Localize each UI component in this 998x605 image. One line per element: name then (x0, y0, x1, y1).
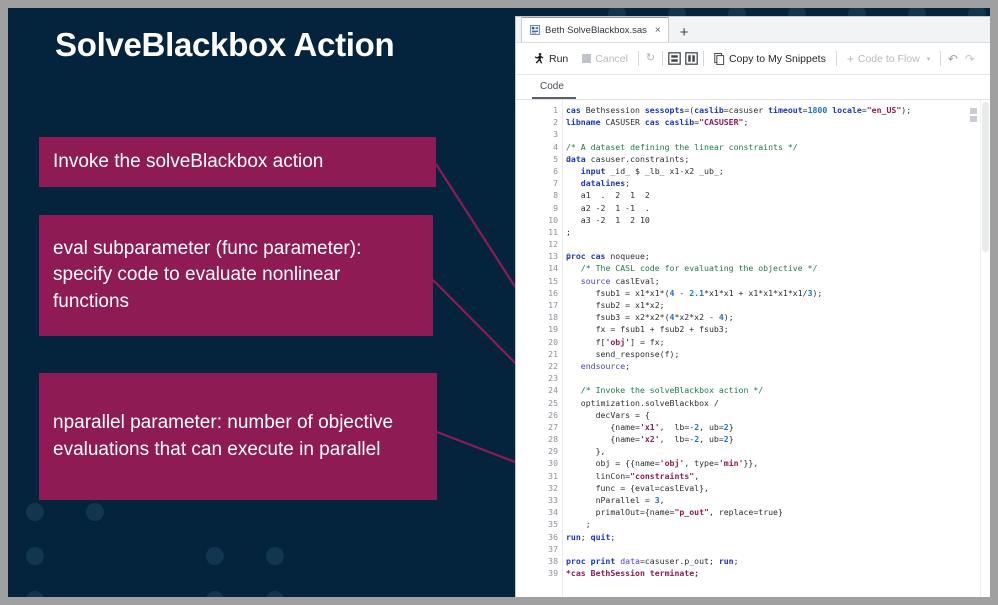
code-token: linCon= (566, 471, 630, 481)
decorative-dot (266, 547, 284, 565)
code-token: locale (832, 105, 862, 115)
editor-minimap (970, 108, 979, 124)
code-token: proc print (566, 556, 620, 566)
code-token: Bethsession (586, 105, 645, 115)
document-tab[interactable]: Beth SolveBlackbox.sas × (521, 16, 669, 42)
code-line: endsource; (566, 360, 990, 372)
line-number: 38 (516, 555, 562, 567)
code-token: ; (625, 178, 630, 188)
code-token: casuser.constraints; (591, 154, 690, 164)
undo-button[interactable]: ↶ (944, 50, 961, 67)
line-number: 28 (516, 433, 562, 445)
line-number: 21 (516, 348, 562, 360)
line-number: 6 (516, 165, 562, 177)
code-line: decVars = { (566, 409, 990, 421)
refresh-button[interactable]: ↻ (642, 50, 659, 67)
code-token: quit (591, 532, 611, 542)
code-token: ); (724, 312, 734, 322)
code-token: a3 -2 1 2 10 (566, 215, 650, 225)
code-line: fsub2 = x1*x2; (566, 299, 990, 311)
line-number: 16 (516, 287, 562, 299)
code-token: *x2*x2 - (674, 312, 718, 322)
code-content[interactable]: cas Bethsession sessopts=(caslib=casuser… (562, 100, 990, 597)
callout-eval-subparameter: eval subparameter (func parameter): spec… (39, 215, 433, 336)
code-line: libname CASUSER cas caslib="CASUSER"; (566, 116, 990, 128)
code-line: proc cas noqueue; (566, 250, 990, 262)
line-number: 20 (516, 336, 562, 348)
code-token: {name= (566, 434, 640, 444)
code-token: caslib (694, 105, 724, 115)
line-number: 15 (516, 275, 562, 287)
code-to-flow-button: + Code to Flow ▾ (840, 48, 937, 70)
slide-canvas: SolveBlackbox Action Invoke the solveBla… (8, 8, 990, 597)
redo-icon: ↷ (965, 53, 975, 65)
code-token: run (719, 556, 734, 566)
code-token: } (729, 422, 734, 432)
fold-toggle-icon[interactable]: ⊖ (562, 153, 571, 165)
code-token: , type= (684, 458, 719, 468)
code-token: , ub= (699, 422, 724, 432)
line-number: 11 (516, 226, 562, 238)
line-number: 30 (516, 457, 562, 469)
toolbar-divider (836, 51, 837, 66)
code-token: _id_ $ _lb_ x1-x2 _ub_; (610, 166, 723, 176)
code-token: =casuser (724, 105, 768, 115)
redo-button[interactable]: ↷ (961, 50, 978, 67)
code-line (566, 543, 990, 555)
line-number: 7 (516, 177, 562, 189)
editor-toolbar: Run Cancel ↻ (516, 43, 990, 75)
code-token: cas (645, 117, 665, 127)
line-number: 33 (516, 494, 562, 506)
minimap-mark (970, 116, 977, 122)
line-number: 22 (516, 360, 562, 372)
line-number: 32 (516, 482, 562, 494)
line-number: 3 (516, 128, 562, 140)
code-token: =casuser.p_out; (640, 556, 719, 566)
code-token: cas (566, 105, 586, 115)
code-token: datalines (581, 178, 625, 188)
code-token (566, 263, 581, 273)
decorative-dot (26, 591, 44, 597)
code-token: , ub= (699, 434, 724, 444)
line-number: 5⊖ (516, 153, 562, 165)
code-line: }, (566, 445, 990, 457)
line-number: 2 (516, 116, 562, 128)
copy-to-my-snippets-label: Copy to My Snippets (729, 53, 826, 65)
copy-to-my-snippets-button[interactable]: Copy to My Snippets (707, 48, 833, 70)
code-line: {name='x1', lb=-2, ub=2} (566, 421, 990, 433)
code-token: 2.1 (689, 288, 704, 298)
code-token: source (581, 276, 616, 286)
code-token: fsub2 = x1*x2; (566, 300, 665, 310)
code-token: func = {eval=caslEval}, (566, 483, 709, 493)
code-line: send_response(f); (566, 348, 990, 360)
code-token: ; (625, 361, 630, 371)
line-number: 31 (516, 470, 562, 482)
code-line: a2 -2 1 -1 . (566, 202, 990, 214)
code-line: source caslEval; (566, 275, 990, 287)
line-number: 1 (516, 104, 562, 116)
code-line: ; (566, 226, 990, 238)
code-line: /* A dataset defining the linear constra… (566, 141, 990, 153)
code-token: ; (743, 117, 748, 127)
code-token: a1 . 2 1 2 (566, 190, 650, 200)
code-line: nParallel = 3, (566, 494, 990, 506)
line-number: 19 (516, 323, 562, 335)
line-number: 14 (516, 262, 562, 274)
code-token: "CASUSER" (699, 117, 743, 127)
code-line: a1 . 2 1 2 (566, 189, 990, 201)
code-line: cas Bethsession sessopts=(caslib=casuser… (566, 104, 990, 116)
callout-eval-subparameter-text: eval subparameter (func parameter): spec… (53, 236, 419, 315)
callout-invoke-action: Invoke the solveBlackbox action (39, 137, 436, 187)
line-number: 17 (516, 299, 562, 311)
code-line (566, 128, 990, 140)
scrollbar-thumb[interactable] (982, 102, 989, 252)
code-token: ); (901, 105, 911, 115)
code-line: run; quit; (566, 531, 990, 543)
code-token: *x1*x1 + x1*x1*x1*x1/ (704, 288, 808, 298)
code-token: noqueue; (610, 251, 649, 261)
code-token: ; (581, 532, 591, 542)
code-token: /* The CASL code for evaluating the obje… (581, 263, 818, 273)
stop-icon (582, 54, 591, 63)
code-token: 1800 (808, 105, 828, 115)
code-token: /* Invoke the solveBlackbox action */ (581, 385, 763, 395)
callout-nparallel-parameter: nparallel parameter: number of objective… (39, 373, 437, 500)
code-token: , lb=- (660, 434, 695, 444)
undo-icon: ↶ (948, 53, 958, 65)
cancel-label: Cancel (595, 53, 628, 65)
editor-subtab-bar: Code (516, 75, 990, 100)
code-token (566, 178, 581, 188)
code-token: ); (813, 288, 823, 298)
code-token: 'x2' (640, 434, 660, 444)
code-token: 'x1' (640, 422, 660, 432)
code-token: /* A dataset defining the linear constra… (566, 142, 798, 152)
line-number: 25 (516, 397, 562, 409)
document-tab-label: Beth SolveBlackbox.sas (545, 25, 647, 36)
code-token: ] = fx; (630, 337, 665, 347)
code-token: 'min' (719, 458, 744, 468)
callout-invoke-action-text: Invoke the solveBlackbox action (53, 149, 323, 175)
code-token: a2 -2 1 -1 . (566, 203, 650, 213)
refresh-icon: ↻ (646, 53, 655, 64)
line-number: 27 (516, 421, 562, 433)
code-token: fsub1 = x1*x1*( (566, 288, 670, 298)
code-line: primalOut={name="p_out", replace=true} (566, 506, 990, 518)
code-token: nParallel = (566, 495, 655, 505)
code-line: obj = {{name='obj', type='min'}}, (566, 457, 990, 469)
code-token: - (674, 288, 689, 298)
line-number: 24 (516, 384, 562, 396)
code-token: ; (734, 556, 739, 566)
decorative-dot (206, 591, 224, 597)
line-number: 9 (516, 202, 562, 214)
run-icon (533, 52, 545, 65)
code-line: ; (566, 518, 990, 530)
code-token (566, 166, 581, 176)
code-line: a3 -2 1 2 10 (566, 214, 990, 226)
code-token: }}, (744, 458, 759, 468)
code-line: *cas BethSession terminate; (566, 567, 990, 579)
line-number: 29 (516, 445, 562, 457)
page-title: SolveBlackbox Action (55, 26, 394, 64)
line-number: 26 (516, 409, 562, 421)
panel-split-icon (668, 52, 681, 65)
code-line: func = {eval=caslEval}, (566, 482, 990, 494)
code-token: run (566, 532, 581, 542)
code-line: {name='x2', lb=-2, ub=2} (566, 433, 990, 445)
code-token: ; (566, 519, 591, 529)
code-line (566, 372, 990, 384)
code-token: sessopts (645, 105, 684, 115)
decorative-dot (26, 503, 44, 521)
code-token: "constraints" (630, 471, 694, 481)
callout-nparallel-parameter-text: nparallel parameter: number of objective… (53, 410, 423, 462)
code-to-flow-label: Code to Flow (858, 53, 920, 65)
line-number: 4 (516, 141, 562, 153)
line-number: 8 (516, 189, 562, 201)
code-line: datalines; (566, 177, 990, 189)
split-horizontal-button[interactable] (666, 50, 683, 67)
line-number: 10 (516, 214, 562, 226)
code-token: obj = {{name= (566, 458, 660, 468)
close-icon[interactable]: × (655, 25, 661, 36)
decorative-dot (266, 591, 284, 597)
code-token (566, 385, 581, 395)
code-token: fsub3 = x2*x2*( (566, 312, 670, 322)
code-line: fsub1 = x1*x1*(4 - 2.1*x1*x1 + x1*x1*x1*… (566, 287, 990, 299)
code-line: optimization.solveBlackbox / (566, 397, 990, 409)
code-token: ; (610, 532, 615, 542)
code-line: /* Invoke the solveBlackbox action */ (566, 384, 990, 396)
chevron-down-icon: ▾ (927, 55, 931, 63)
code-line: proc print data=casuser.p_out; run; (566, 555, 990, 567)
code-token: endsource (581, 361, 625, 371)
code-token: primalOut={name= (566, 507, 674, 517)
code-token: CASUSER (605, 117, 644, 127)
cancel-button: Cancel (575, 48, 635, 70)
code-token: {name= (566, 422, 640, 432)
toolbar-divider (940, 51, 941, 66)
decorative-dot (26, 547, 44, 565)
sas-file-icon (530, 25, 540, 35)
code-token: =( (684, 105, 694, 115)
code-token: libname (566, 117, 605, 127)
tab-code[interactable]: Code (532, 81, 576, 99)
code-token: 'obj' (660, 458, 685, 468)
line-number: 13⊖ (516, 250, 562, 262)
code-token: caslib (665, 117, 695, 127)
line-number: 12 (516, 238, 562, 250)
code-token: , (660, 495, 665, 505)
copy-snippet-icon (714, 53, 725, 65)
code-token: , (694, 471, 699, 481)
run-button[interactable]: Run (526, 48, 575, 70)
plus-icon: + (847, 52, 854, 66)
code-token: *cas BethSession terminate; (566, 568, 699, 578)
code-token: 'obj' (605, 337, 630, 347)
code-token: } (729, 434, 734, 444)
code-line (566, 238, 990, 250)
code-token: caslEval; (615, 276, 659, 286)
code-token: data (620, 556, 640, 566)
code-line: /* The CASL code for evaluating the obje… (566, 262, 990, 274)
line-number: 18 (516, 311, 562, 323)
tab-code-label: Code (540, 81, 564, 92)
code-token: proc cas (566, 251, 610, 261)
toolbar-divider (638, 51, 639, 66)
code-line: fsub3 = x2*x2*(4*x2*x2 - 4); (566, 311, 990, 323)
document-tab-bar: Beth SolveBlackbox.sas × + (516, 17, 990, 43)
code-line: linCon="constraints", (566, 470, 990, 482)
run-label: Run (549, 53, 568, 65)
editor-scrollbar[interactable] (980, 100, 990, 597)
line-number: 36 (516, 531, 562, 543)
line-number: 39 (516, 567, 562, 579)
code-token: , lb=- (660, 422, 695, 432)
code-token: input (581, 166, 611, 176)
line-number: 35 (516, 518, 562, 530)
code-token (566, 361, 581, 371)
code-token: ; (566, 227, 571, 237)
code-line: f['obj'] = fx; (566, 336, 990, 348)
code-editor[interactable]: 12345⊖678910111213⊖141516171819202122232… (516, 100, 990, 597)
code-token: , replace=true} (709, 507, 783, 517)
code-line: fx = fsub1 + fsub2 + fsub3; (566, 323, 990, 335)
code-token: "p_out" (674, 507, 709, 517)
line-number: 37 (516, 543, 562, 555)
code-token: optimization.solveBlackbox / (566, 398, 719, 408)
new-tab-button[interactable]: + (669, 25, 698, 42)
minimap-mark (970, 108, 977, 114)
code-token (566, 276, 581, 286)
fold-toggle-icon[interactable]: ⊖ (562, 250, 571, 262)
code-line: data casuser.constraints; (566, 153, 990, 165)
sas-studio-window: Beth SolveBlackbox.sas × + Run Cancel (515, 16, 990, 597)
decorative-dot (206, 547, 224, 565)
code-token: f[ (566, 337, 605, 347)
panel-grid-icon (685, 52, 698, 65)
toolbar-divider (703, 51, 704, 66)
code-token: decVars = { (566, 410, 650, 420)
decorative-dot (86, 503, 104, 521)
split-vertical-button[interactable] (683, 50, 700, 67)
code-token: fx = fsub1 + fsub2 + fsub3; (566, 324, 729, 334)
toolbar-divider (662, 51, 663, 66)
code-token: "en_US" (867, 105, 902, 115)
code-line: input _id_ $ _lb_ x1-x2 _ub_; (566, 165, 990, 177)
line-number-gutter: 12345⊖678910111213⊖141516171819202122232… (516, 100, 562, 597)
line-number: 34 (516, 506, 562, 518)
line-number: 23 (516, 372, 562, 384)
code-token: timeout (768, 105, 803, 115)
code-token: }, (566, 446, 605, 456)
code-token: send_response(f); (566, 349, 679, 359)
